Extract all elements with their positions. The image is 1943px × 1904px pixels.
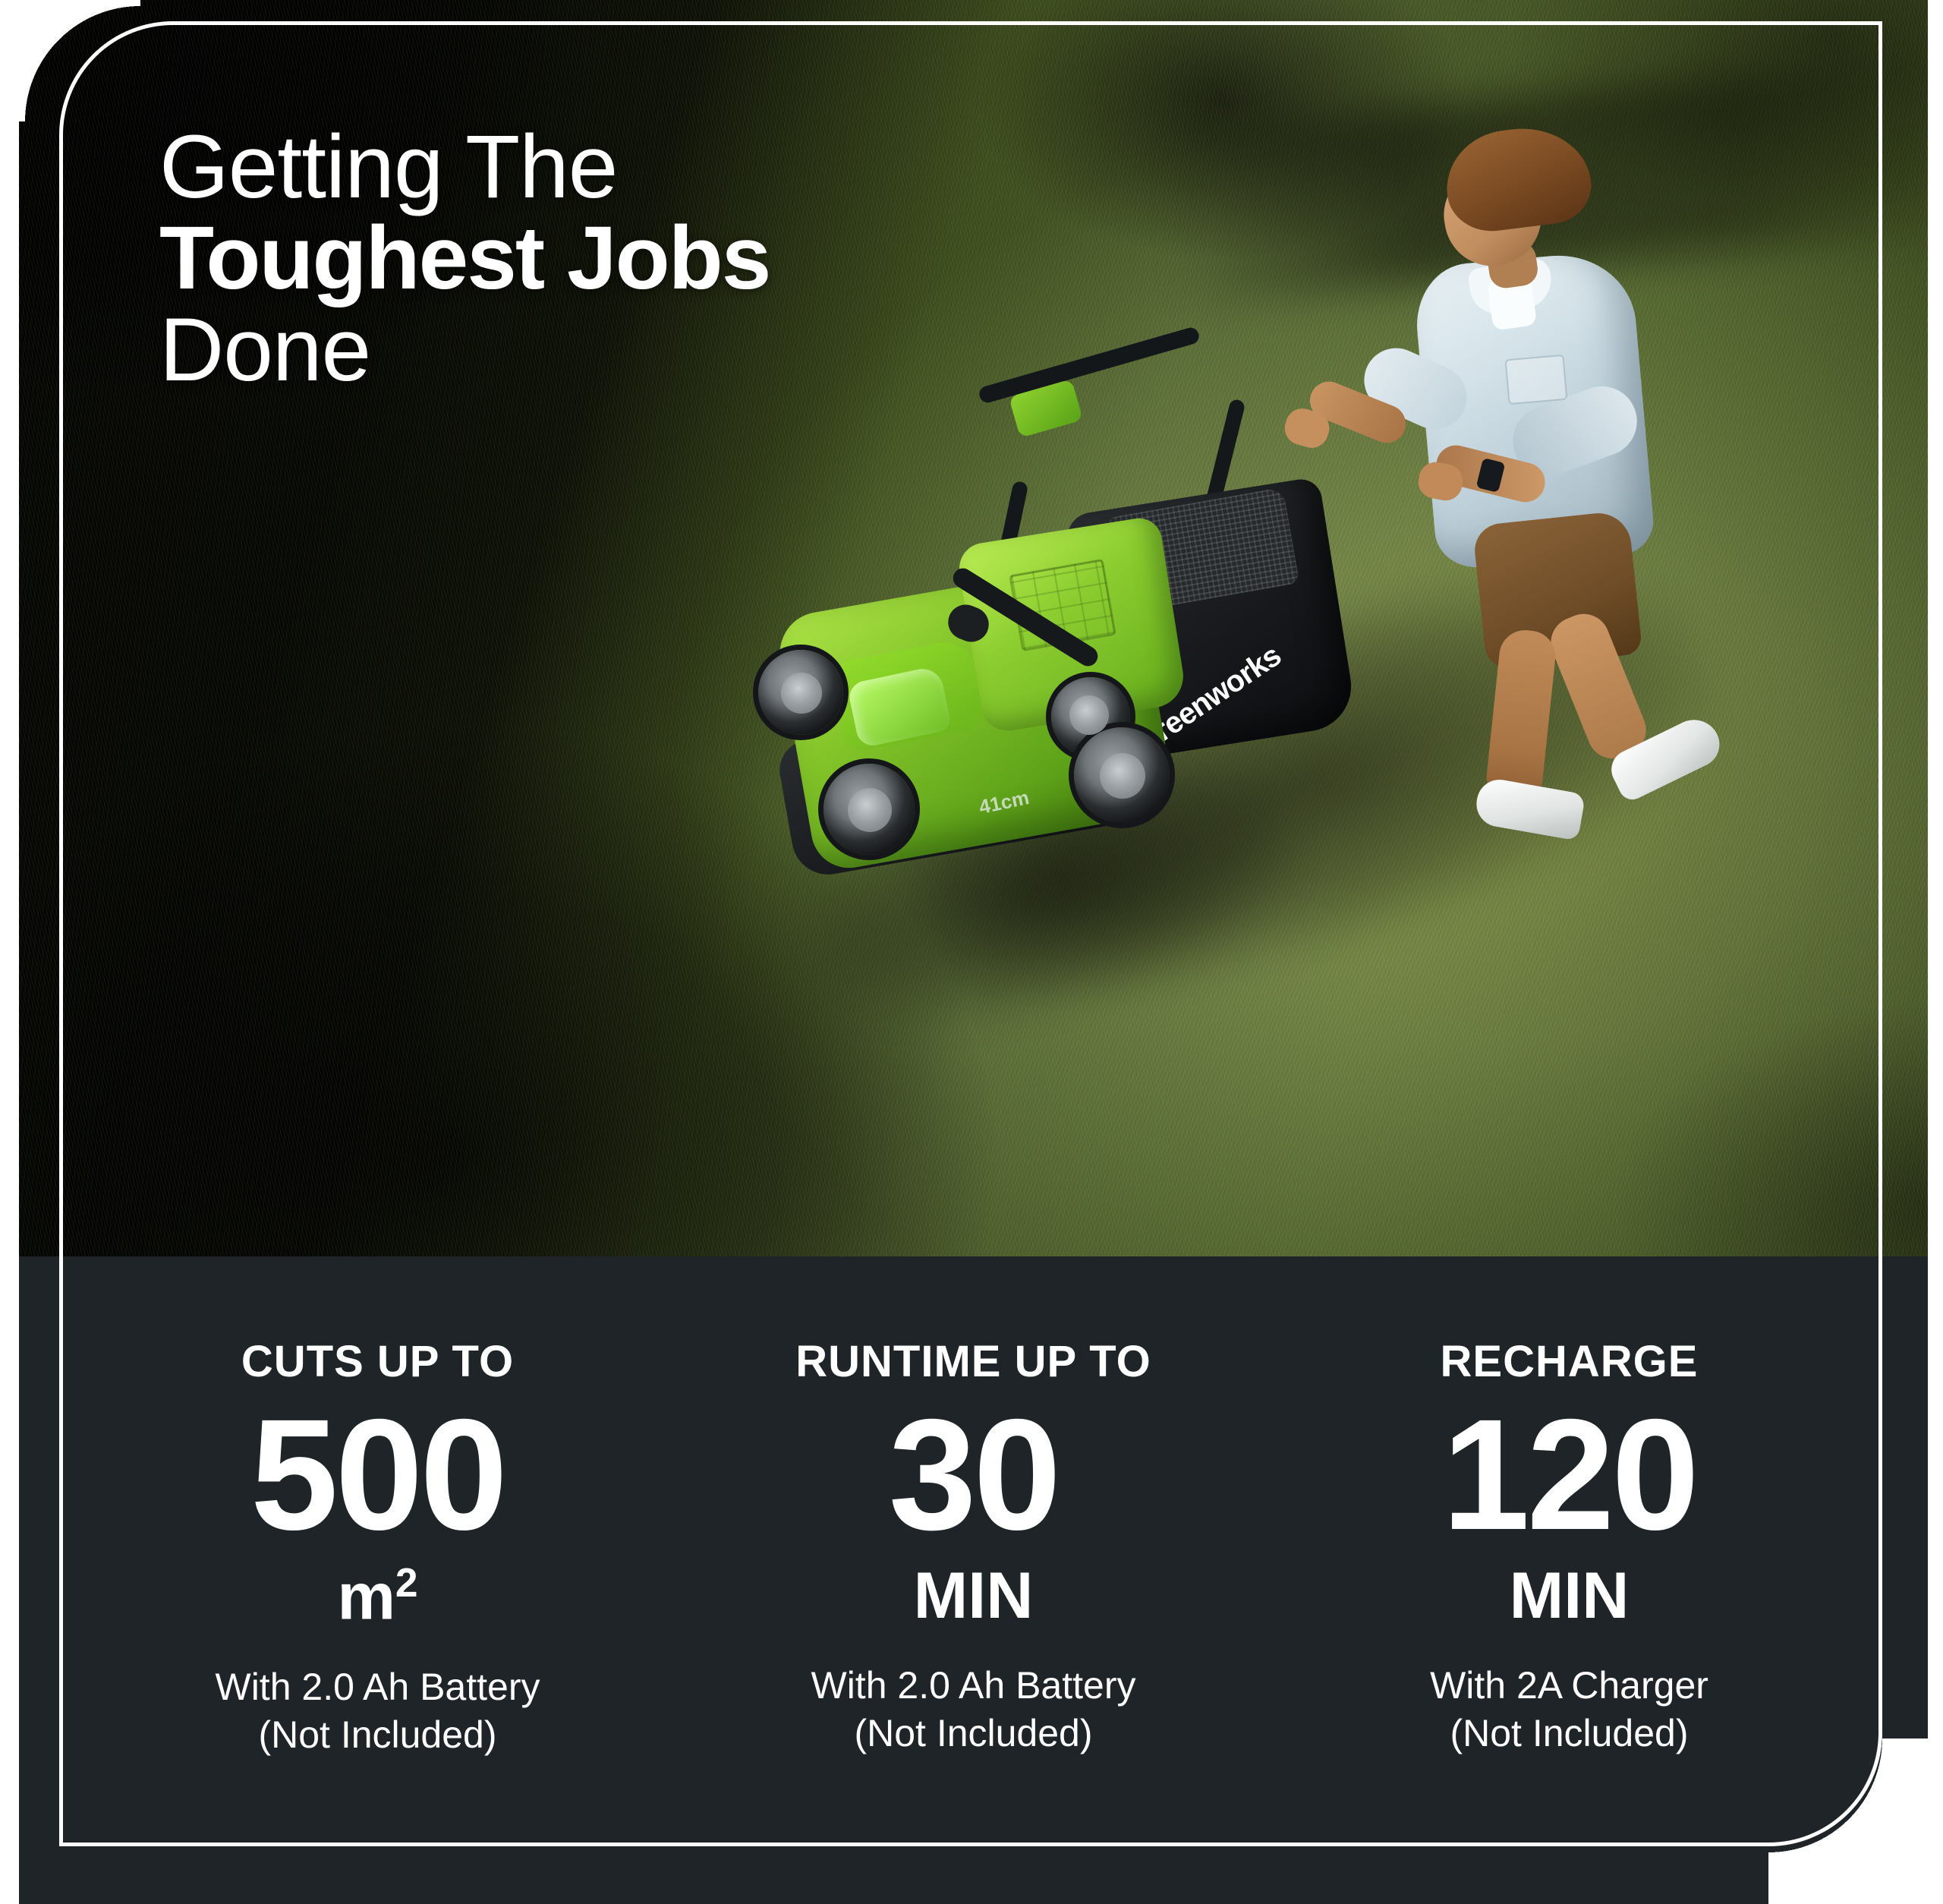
- stat-value: 500: [250, 1395, 505, 1556]
- stat-value: 30: [889, 1395, 1058, 1556]
- frame-corner-bottom-right: [1768, 1739, 1928, 1904]
- person-shoe-front: [1473, 776, 1586, 840]
- page-margin-left: [0, 0, 19, 1904]
- stat-unit: MIN: [1510, 1563, 1630, 1628]
- stat-note-line-2: (Not Included): [216, 1711, 540, 1759]
- page-margin-right: [1928, 0, 1943, 1904]
- wheel-hub-front-right: [848, 788, 892, 832]
- stat-unit-superscript: 2: [395, 1561, 418, 1606]
- stat-cuts-up-to: CUTS UP TO 500 m2 With 2.0 Ah Battery (N…: [80, 1336, 675, 1759]
- headline: Getting The Toughest Jobs Done: [159, 121, 1237, 396]
- stat-recharge: RECHARGE 120 MIN With 2A Charger (Not In…: [1271, 1336, 1867, 1757]
- stat-unit: MIN: [914, 1563, 1034, 1628]
- stat-value: 120: [1442, 1395, 1696, 1556]
- stat-note: With 2A Charger (Not Included): [1430, 1662, 1708, 1757]
- wheel-hub-rear-left: [1069, 695, 1109, 735]
- product-feature-banner: greenworks 41cm: [0, 0, 1943, 1904]
- headline-line-1: Getting The: [159, 121, 1237, 213]
- stat-unit-text: m: [337, 1561, 395, 1634]
- stat-note-line-2: (Not Included): [811, 1710, 1136, 1757]
- stats-row: CUTS UP TO 500 m2 With 2.0 Ah Battery (N…: [80, 1336, 1867, 1837]
- stat-note: With 2.0 Ah Battery (Not Included): [216, 1663, 540, 1759]
- person-mowing: [1355, 129, 1825, 858]
- stat-note-line-2: (Not Included): [1430, 1710, 1708, 1757]
- wheel-hub-rear-right: [1100, 753, 1145, 799]
- stat-note-line-1: With 2.0 Ah Battery: [811, 1662, 1136, 1710]
- stat-heading: CUTS UP TO: [241, 1336, 514, 1387]
- stat-unit: m2: [337, 1563, 417, 1630]
- stat-note-line-1: With 2.0 Ah Battery: [216, 1663, 540, 1711]
- wheel-hub-front-left: [781, 673, 822, 714]
- person-shirt-pocket: [1505, 355, 1568, 405]
- headline-line-3: Done: [159, 304, 1237, 396]
- stat-heading: RUNTIME UP TO: [795, 1336, 1151, 1387]
- person-hair: [1441, 121, 1595, 236]
- lawn-mower: greenworks 41cm: [763, 486, 1446, 987]
- stat-runtime-up-to: RUNTIME UP TO 30 MIN With 2.0 Ah Battery…: [675, 1336, 1271, 1757]
- frame-corner-top-left: [19, 0, 140, 121]
- stat-note: With 2.0 Ah Battery (Not Included): [811, 1662, 1136, 1757]
- stats-panel: CUTS UP TO 500 m2 With 2.0 Ah Battery (N…: [19, 1256, 1928, 1904]
- stat-heading: RECHARGE: [1441, 1336, 1699, 1387]
- stat-note-line-1: With 2A Charger: [1430, 1662, 1708, 1710]
- headline-line-2: Toughest Jobs: [159, 213, 1237, 304]
